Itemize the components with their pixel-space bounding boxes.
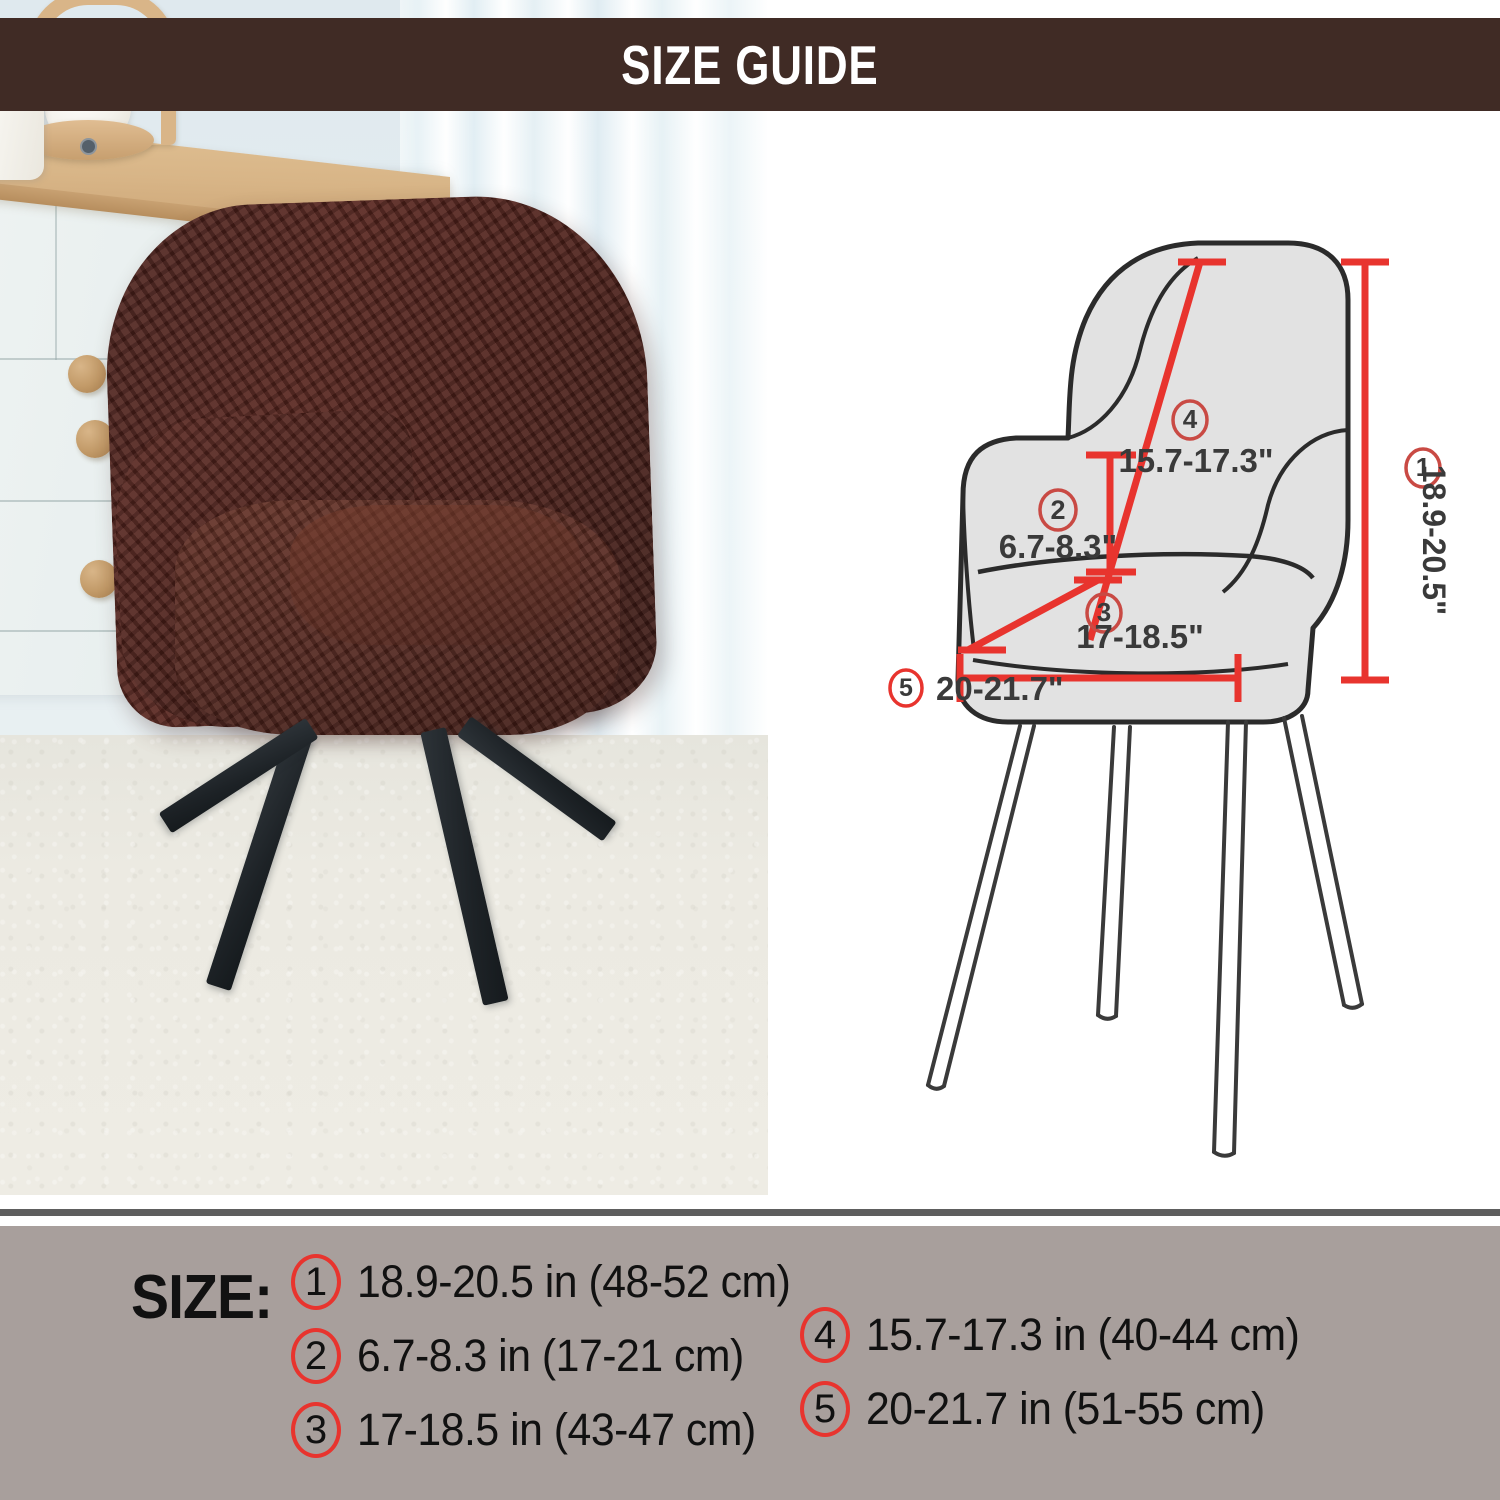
size-row: 5 20-21.7 in (51-55 cm)	[800, 1379, 1322, 1439]
size-list-right: 4 15.7-17.3 in (40-44 cm) 5 20-21.7 in (…	[800, 1305, 1322, 1453]
header-banner: SIZE GUIDE	[0, 18, 1500, 111]
callout-5: 5	[890, 670, 922, 706]
drawer-knob	[80, 560, 118, 598]
size-value: 18.9-20.5 in (48-52 cm)	[357, 1256, 790, 1308]
callout-2-number: 2	[1050, 495, 1065, 525]
size-number-badge: 1	[291, 1254, 341, 1310]
size-row: 4 15.7-17.3 in (40-44 cm)	[800, 1305, 1322, 1365]
size-number-badge: 5	[800, 1381, 850, 1437]
measurement-diagram: 1 18.9-20.5" 2 6.7-8.3" 3 17-18.5" 4 15.…	[768, 0, 1500, 1195]
callout-2-value: 6.7-8.3"	[999, 528, 1117, 565]
callout-1-value: 18.9-20.5"	[1416, 465, 1452, 615]
size-value: 6.7-8.3 in (17-21 cm)	[357, 1330, 744, 1382]
size-number-badge: 2	[291, 1328, 341, 1384]
diagram-svg: 1 18.9-20.5" 2 6.7-8.3" 3 17-18.5" 4 15.…	[768, 0, 1500, 1195]
page-title: SIZE GUIDE	[621, 33, 878, 97]
top-section: 1 18.9-20.5" 2 6.7-8.3" 3 17-18.5" 4 15.…	[0, 0, 1500, 1195]
size-list-left: 1 18.9-20.5 in (48-52 cm) 2 6.7-8.3 in (…	[291, 1252, 813, 1474]
callout-5-number: 5	[899, 674, 913, 702]
size-row: 3 17-18.5 in (43-47 cm)	[291, 1400, 813, 1460]
size-number-badge: 3	[291, 1402, 341, 1458]
size-row: 2 6.7-8.3 in (17-21 cm)	[291, 1326, 813, 1386]
size-label: SIZE:	[131, 1262, 272, 1333]
drawer-vertical-seam	[55, 200, 57, 360]
carpet-texture	[0, 735, 768, 1195]
section-divider	[0, 1209, 1500, 1216]
callout-4-value: 15.7-17.3"	[1118, 442, 1273, 479]
callout-3-value: 17-18.5"	[1076, 618, 1204, 655]
size-value: 17-18.5 in (43-47 cm)	[357, 1404, 756, 1456]
size-value: 20-21.7 in (51-55 cm)	[866, 1383, 1265, 1435]
arch-base-knob	[80, 138, 97, 155]
chair-legs-group	[928, 716, 1362, 1156]
size-number-badge: 4	[800, 1307, 850, 1363]
callout-5-value: 20-21.7"	[936, 670, 1064, 707]
size-row: 1 18.9-20.5 in (48-52 cm)	[291, 1252, 813, 1312]
drawer-knob	[68, 355, 106, 393]
product-photo	[0, 0, 768, 1195]
callout-4-number: 4	[1183, 404, 1198, 434]
size-value: 15.7-17.3 in (40-44 cm)	[866, 1309, 1299, 1361]
chair-seat-cushion	[290, 505, 580, 645]
